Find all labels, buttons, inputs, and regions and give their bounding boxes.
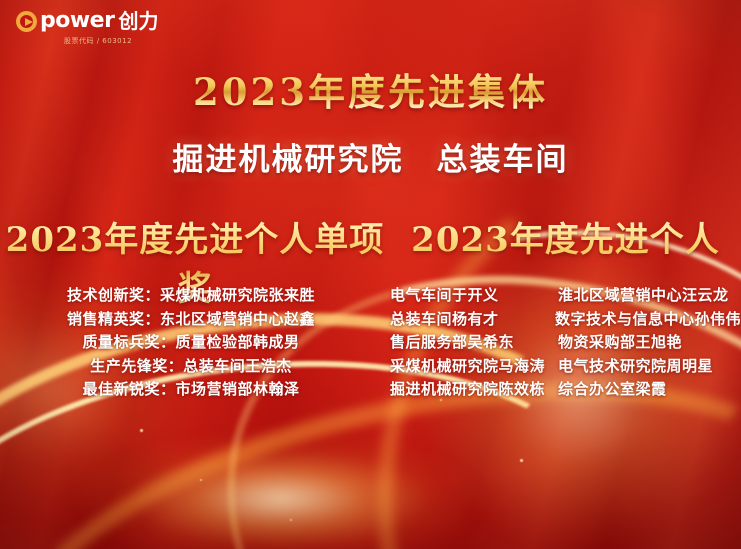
list-item-name-b: 电气技术研究院周明星: [558, 355, 741, 379]
list-item: 售后服务部吴希东 物资采购部王旭艳: [382, 331, 741, 355]
list-item-name-b: 淮北区域营销中心汪云龙: [558, 284, 741, 308]
list-item: 电气车间于开义 淮北区域营销中心汪云龙: [382, 284, 741, 308]
list-item: 销售精英奖：东北区域营销中心赵鑫: [0, 308, 382, 332]
list-item-name-a: 总装车间杨有才: [382, 308, 555, 332]
award-lists: 技术创新奖：采煤机械研究院张来胜 销售精英奖：东北区域营销中心赵鑫 质量标兵奖：…: [0, 284, 741, 402]
logo-stock-code: 股票代码 / 603012: [64, 36, 158, 46]
list-item-name-a: 掘进机械研究院陈效栋: [382, 378, 558, 402]
page-subtitle: 掘进机械研究院 总装车间: [0, 134, 741, 179]
award-poster: power 创力 股票代码 / 603012 2023年度先进集体 掘进机械研究…: [0, 0, 741, 549]
power-circle-icon: [16, 11, 37, 32]
list-item: 总装车间杨有才 数字技术与信息中心孙伟伟: [382, 308, 741, 332]
list-item-name-b: 数字技术与信息中心孙伟伟: [555, 308, 741, 332]
page-title: 2023年度先进集体: [0, 62, 741, 116]
list-item-name-a: 采煤机械研究院马海涛: [382, 355, 558, 379]
company-logo: power 创力 股票代码 / 603012: [16, 10, 158, 46]
list-item-name-a: 售后服务部吴希东: [382, 331, 558, 355]
list-item: 采煤机械研究院马海涛 电气技术研究院周明星: [382, 355, 741, 379]
list-item-name-b: 物资采购部王旭艳: [558, 331, 741, 355]
list-item-name-b: 综合办公室梁霞: [558, 378, 741, 402]
left-award-list: 技术创新奖：采煤机械研究院张来胜 销售精英奖：东北区域营销中心赵鑫 质量标兵奖：…: [0, 284, 382, 402]
list-item-name-a: 电气车间于开义: [382, 284, 558, 308]
list-item: 最佳新锐奖：市场营销部林翰泽: [0, 378, 382, 402]
logo-wordmark-cn: 创力: [118, 11, 158, 31]
list-item: 掘进机械研究院陈效栋 综合办公室梁霞: [382, 378, 741, 402]
logo-row: power 创力: [16, 10, 158, 32]
list-item: 生产先锋奖：总装车间王浩杰: [0, 355, 382, 379]
list-item: 技术创新奖：采煤机械研究院张来胜: [0, 284, 382, 308]
right-award-list: 电气车间于开义 淮北区域营销中心汪云龙 总装车间杨有才 数字技术与信息中心孙伟伟…: [382, 284, 741, 402]
logo-wordmark: power: [40, 10, 114, 32]
list-item: 质量标兵奖：质量检验部韩成男: [0, 331, 382, 355]
